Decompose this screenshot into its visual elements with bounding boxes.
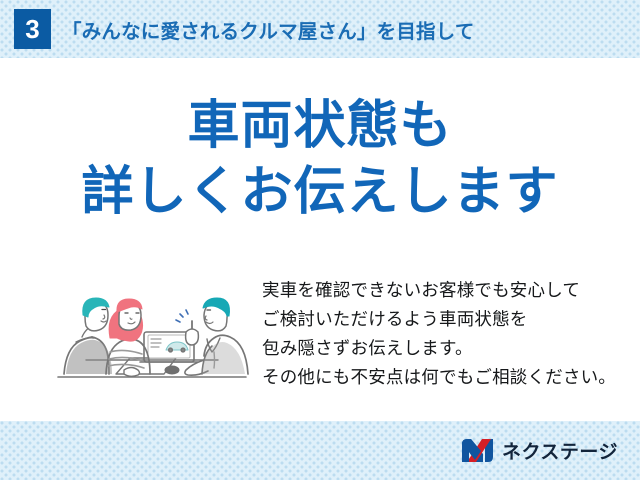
consultation-illustration xyxy=(52,274,252,399)
headline-line-1: 車両状態も xyxy=(0,94,640,160)
header-content: 3 「みんなに愛されるクルマ屋さん」を目指して xyxy=(0,0,640,58)
header-title: 「みんなに愛されるクルマ屋さん」を目指して xyxy=(62,15,475,44)
customer-male-figure xyxy=(64,298,112,374)
headline-line-2: 詳しくお伝えします xyxy=(0,160,640,226)
staff-figure xyxy=(176,298,248,375)
paragraph-line-3: 包み隠さずお伝えします。 xyxy=(262,334,632,363)
mouse-icon xyxy=(165,366,179,374)
promotional-banner: 3 「みんなに愛されるクルマ屋さん」を目指して 車両状態も 詳しくお伝えします xyxy=(0,0,640,480)
bottom-row: 実車を確認できないお客様でも安心して ご検討いただけるよう車両状態を 包み隠さず… xyxy=(0,274,640,414)
banner-footer: ネクステージ xyxy=(0,421,640,480)
section-number-badge: 3 xyxy=(14,9,51,49)
banner-main: 車両状態も 詳しくお伝えします xyxy=(0,58,640,421)
banner-header: 3 「みんなに愛されるクルマ屋さん」を目指して xyxy=(0,0,640,58)
headline: 車両状態も 詳しくお伝えします xyxy=(0,94,640,225)
paragraph-line-4: その他にも不安点は何でもご相談ください。 xyxy=(262,363,632,392)
paragraph-line-1: 実車を確認できないお客様でも安心して xyxy=(262,276,632,305)
nextage-n-logo-icon xyxy=(461,438,495,463)
description-paragraph: 実車を確認できないお客様でも安心して ご検討いただけるよう車両状態を 包み隠さず… xyxy=(262,276,632,392)
nextage-logo-text: ネクステージ xyxy=(502,437,618,464)
footer-content: ネクステージ xyxy=(461,421,640,480)
paragraph-line-2: ご検討いただけるよう車両状態を xyxy=(262,305,632,334)
